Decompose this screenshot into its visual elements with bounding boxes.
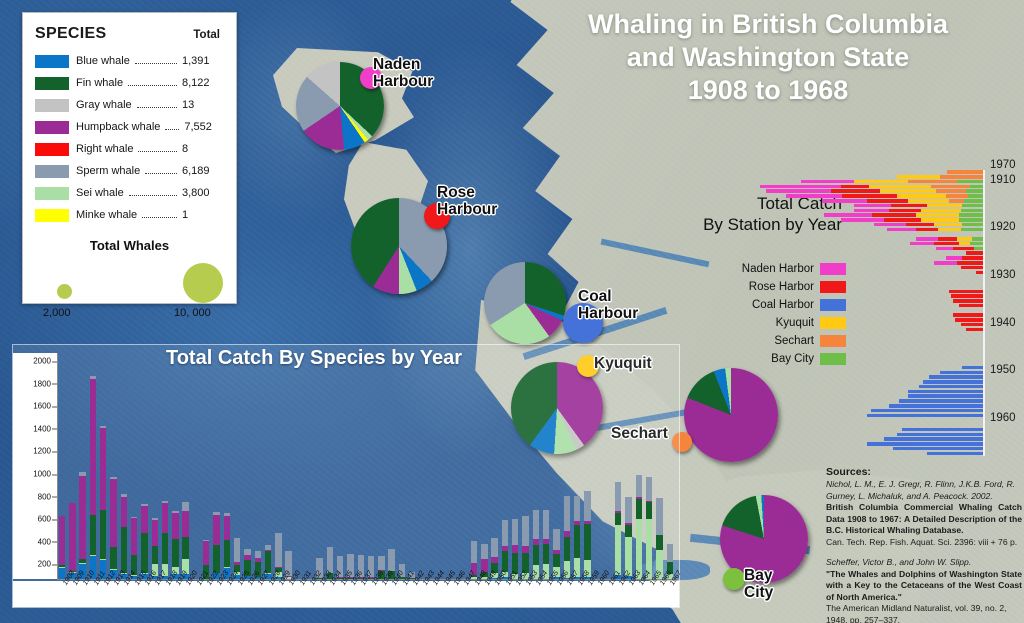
station-bar-segment [880,189,936,193]
station-bar-segment [959,242,970,246]
species-bar-segment [543,510,549,539]
species-legend-row: Sperm whale6,189 [35,160,224,182]
size-legend-large-circle [183,263,223,303]
station-year-bar [946,256,983,260]
species-chart-y-tick: 2000 [33,357,51,366]
species-bar-segment [182,502,188,511]
species-bar-segment [162,533,168,564]
species-bar-segment [564,496,570,531]
species-legend-panel: SPECIES Total Blue whale1,391Fin whale8,… [22,12,237,304]
species-total: 7,552 [184,121,224,133]
station-year-bar [961,323,983,327]
species-bar-segment [203,541,209,566]
species-bar-segment [656,535,662,550]
sources-heading: Sources: [826,466,1022,478]
species-bar-segment [471,541,477,563]
species-total: 1,391 [182,55,224,67]
species-by-year-chart: 0200400600800100012001400160018002000 19… [12,344,680,608]
station-bar-segment [966,189,983,193]
station-bar-segment [961,266,983,270]
species-chart-y-tick: 1200 [33,447,51,456]
leader-dots [138,143,177,152]
species-color-swatch [35,55,69,68]
species-bar-segment [275,533,281,567]
station-bar-segment [955,318,983,322]
species-year-bar [182,502,188,579]
station-bar-segment [902,428,983,432]
station-chart-year-tick: 1920 [990,221,1016,233]
station-bar-segment [916,237,938,241]
station-bar-segment [872,213,915,217]
station-year-bar [854,209,983,213]
species-color-swatch [35,99,69,112]
species-bar-segment [224,540,230,567]
station-year-bar [910,242,983,246]
species-bar-segment [100,510,106,560]
station-label: Bay City [744,567,773,602]
station-bar-segment [959,218,983,222]
species-bar-segment [615,525,621,575]
station-bar-segment [949,199,964,203]
station-chart-year-tick: 1950 [990,364,1016,376]
station-year-bar [940,371,983,375]
station-bar-segment [938,237,957,241]
size-legend-small-circle [57,284,72,299]
station-bar-segment [929,375,983,379]
station-year-bar [908,394,983,398]
station-bar-segment [867,414,983,418]
species-year-bar [656,498,662,579]
species-bar-segment [625,497,631,524]
total-whales-size-legend: 2,000 10, 000 [35,257,224,315]
station-bar-segment [824,213,873,217]
station-chart-year-tick: 1910 [990,174,1016,186]
station-label: Rose Harbour [437,184,497,219]
station-year-bar [871,409,983,413]
species-year-bar [79,472,85,579]
station-bar-segment [959,304,983,308]
station-bar-segment [934,261,956,265]
species-chart-plot-area [57,353,675,579]
station-year-bar [927,452,983,456]
source-2-authors: Scheffer, Victor B., and John W. Slipp. [826,557,1022,569]
species-bar-segment [162,503,168,532]
species-bar-segment [152,546,158,564]
species-legend-total-header: Total [193,29,224,41]
species-bar-segment [141,506,147,534]
station-bar-segment [940,175,983,179]
station-bar-segment [961,323,983,327]
species-name: Fin whale [76,77,123,89]
station-label: Naden Harbour [373,56,433,91]
station-chart-year-tick: 1940 [990,317,1016,329]
species-chart-y-tick: 200 [38,560,51,569]
station-year-bar [889,404,983,408]
species-year-bar [141,504,147,579]
station-by-year-chart: Total Catch By Station by Year Naden Har… [760,168,1024,460]
station-bar-segment [962,366,983,370]
station-bar-segment [938,228,960,232]
species-bar-segment [553,554,559,566]
station-year-bar [929,375,983,379]
station-bar-segment [897,194,946,198]
species-legend-row: Humpback whale7,552 [35,116,224,138]
station-bar-segment [874,223,906,227]
species-legend-title: SPECIES [35,25,106,43]
species-bar-segment [502,520,508,545]
station-year-bar [824,213,983,217]
station-year-bar [884,437,983,441]
species-legend-list: Blue whale1,391Fin whale8,122Gray whale1… [35,50,224,226]
source-1-authors: Nichol, L. M., E. J. Gregr, R. Flinn, J.… [826,479,1022,502]
species-bar-segment [646,477,652,501]
station-bar-segment [961,209,983,213]
station-bar-segment [910,242,934,246]
station-year-bar [867,442,983,446]
station-bar-segment [923,380,983,384]
species-bar-segment [584,491,590,520]
source-1-title: British Columbia Commercial Whaling Catc… [826,502,1022,537]
species-total: 8 [182,143,224,155]
species-bar-segment [234,538,240,562]
station-bar-segment [934,242,958,246]
species-chart-y-tick: 1800 [33,379,51,388]
species-year-bar [646,477,652,579]
station-year-bar [955,318,983,322]
station-bar-segment [822,199,867,203]
station-year-bar [786,194,983,198]
station-bar-segment [962,256,983,260]
station-bar-segment [962,204,983,208]
species-chart-y-tick: 1000 [33,470,51,479]
station-bar-segment [964,199,983,203]
leader-dots [142,209,177,218]
source-2-title: "The Whales and Dolphins of Washington S… [826,569,1022,604]
station-year-bar [919,385,983,389]
station-year-bar [966,251,983,255]
station-bar-segment [916,213,959,217]
species-bar-segment [172,539,178,567]
station-bar-segment [919,385,983,389]
species-bar-segment [584,524,590,560]
station-year-bar [760,185,983,189]
species-year-bar [625,497,631,579]
station-bar-segment [760,185,841,189]
species-bar-segment [110,547,116,569]
station-bar-segment [889,404,983,408]
station-year-bar [953,313,983,317]
station-bar-segment [961,228,983,232]
source-2-publication: The American Midland Naturalist, vol. 39… [826,603,1022,623]
station-bar-segment [966,328,983,332]
station-year-bar [897,175,983,179]
station-bar-segment [934,223,962,227]
species-year-bar [636,475,642,579]
species-color-swatch [35,77,69,90]
station-year-bar [854,204,983,208]
species-bar-segment [90,379,96,515]
station-bar-segment [966,251,983,255]
species-chart-x-axis-band: 1908190919101911191219131914191519161917… [13,581,679,607]
station-bar-segment [931,185,970,189]
station-bar-segment [786,194,842,198]
station-year-bar [822,199,983,203]
station-bar-segment [976,271,983,275]
station-year-bar [893,447,983,451]
station-bar-segment [936,247,953,251]
station-bar-segment [921,218,958,222]
species-year-bar [574,496,580,579]
species-legend-row: Right whale8 [35,138,224,160]
station-chart-year-tick: 1970 [990,159,1016,171]
station-bar-segment [893,447,983,451]
station-year-bar [916,237,983,241]
station-bar-segment [968,194,983,198]
species-legend-header: SPECIES Total [35,25,224,43]
species-name: Right whale [76,143,133,155]
species-total: 13 [182,99,224,111]
species-color-swatch [35,165,69,178]
species-color-swatch [35,209,69,222]
station-bar-segment [889,209,921,213]
station-bar-segment [962,223,983,227]
species-bar-segment [182,537,188,559]
station-bar-segment [869,185,931,189]
station-bar-segment [897,175,940,179]
station-bar-segment [854,180,908,184]
size-legend-large-label: 10, 000 [174,307,211,319]
species-year-bar [110,477,116,579]
species-total: 1 [182,209,224,221]
station-year-bar [951,294,983,298]
species-name: Sperm whale [76,165,140,177]
station-year-bar [962,366,983,370]
species-name: Gray whale [76,99,132,111]
leader-dots [135,55,177,64]
species-chart-y-tick: 1600 [33,402,51,411]
total-whales-legend-title: Total Whales [35,238,224,253]
leader-dots [137,99,177,108]
species-bar-segment [512,545,518,553]
station-bar-segment [831,189,880,193]
station-bar-segment [946,194,968,198]
station-bar-segment [867,199,908,203]
species-bar-segment [574,496,580,521]
station-bar-segment [974,247,983,251]
station-bar-segment [927,452,983,456]
species-year-bar [564,496,570,579]
species-bar-segment [636,499,642,519]
species-color-swatch [35,121,69,134]
species-bar-segment [533,510,539,540]
station-bar-segment [854,209,890,213]
species-year-bar [90,376,96,579]
station-bar-segment [908,180,957,184]
species-total: 6,189 [182,165,224,177]
species-chart-title: Total Catch By Species by Year [99,347,529,370]
station-year-bar [867,414,983,418]
species-year-bar [162,501,168,579]
species-bar-segment [110,479,116,547]
sources-block: Sources: Nichol, L. M., E. J. Gregr, R. … [826,466,1022,623]
station-bar-segment [972,237,983,241]
species-chart-y-tick: 600 [38,515,51,524]
station-bar-segment [916,228,938,232]
species-bar-segment [646,502,652,519]
species-bar-segment [172,513,178,539]
station-year-bar [961,266,983,270]
species-total: 8,122 [182,77,224,89]
station-bar-segment [953,247,974,251]
station-bar-segment [970,185,983,189]
species-legend-row: Minke whale1 [35,204,224,226]
station-year-bar [874,223,983,227]
station-bar-segment [947,170,983,174]
station-year-bar [936,247,983,251]
species-bar-segment [100,428,106,509]
station-bar-segment [949,290,983,294]
station-bar-segment [951,294,983,298]
station-bar-segment [959,213,983,217]
species-bar-segment [564,537,570,561]
species-name: Sei whale [76,187,124,199]
species-chart-y-axis-band: 0200400600800100012001400160018002000 [13,353,57,579]
leader-dots [145,165,177,174]
station-bar-segment [970,242,983,246]
station-year-bar [766,189,983,193]
species-bar-segment [574,525,580,558]
species-bar-segment [615,513,621,525]
species-bar-segment [79,476,85,560]
species-color-swatch [35,187,69,200]
station-bar-segment [842,194,896,198]
station-year-bar [966,328,983,332]
size-legend-small-label: 2,000 [43,307,71,319]
station-year-bar [947,170,983,174]
species-legend-row: Fin whale8,122 [35,72,224,94]
species-name: Minke whale [76,209,137,221]
station-bar-segment [887,228,915,232]
station-bar-segment [957,261,983,265]
station-bar-segment [946,256,963,260]
species-bar-segment [388,549,394,570]
station-year-bar [801,180,983,184]
station-year-bar [902,428,983,432]
species-color-swatch [35,143,69,156]
species-bar-segment [543,544,549,564]
station-bar-segment [841,218,884,222]
species-bar-segment [667,544,673,562]
species-bar-segment [244,549,250,556]
station-bar-segment [953,313,983,317]
species-bar-segment [481,544,487,559]
station-bar-segment [891,204,927,208]
species-bar-segment [121,497,127,527]
station-bar-segment [936,189,966,193]
species-bar-segment [615,482,621,511]
station-marker-dot[interactable] [723,568,745,590]
station-year-bar [899,399,983,403]
species-bar-segment [59,516,65,565]
station-bar-segment [899,399,983,403]
station-bar-segment [908,390,983,394]
species-bar-segment [491,538,497,557]
station-bar-segment [766,189,832,193]
species-bar-segment [378,556,384,570]
station-bar-segment [867,442,983,446]
species-legend-row: Blue whale1,391 [35,50,224,72]
station-chart-year-tick: 1930 [990,269,1016,281]
station-bar-segment [908,199,949,203]
station-chart-year-tick: 1960 [990,412,1016,424]
species-year-bar [584,491,590,579]
species-bar-segment [121,527,127,573]
species-bar-segment [69,503,75,571]
species-bar-segment [152,520,158,546]
species-bar-segment [636,475,642,497]
station-year-bar [934,261,983,265]
species-name: Humpback whale [76,121,160,133]
infographic-poster: Whaling in British Columbia and Washingt… [0,0,1024,623]
station-year-bar [841,218,983,222]
station-bar-segment [940,371,983,375]
station-bar-segment [884,218,921,222]
station-bar-segment [957,180,983,184]
station-bar-segment [957,237,972,241]
species-bar-segment [512,519,518,545]
station-bar-segment [801,180,853,184]
species-bar-segment [656,498,662,535]
station-bar-segment [908,394,983,398]
station-chart-axis [983,170,985,456]
species-bar-segment [522,516,528,545]
leader-dots [128,77,177,86]
species-bar-segment [553,529,559,550]
leader-dots [165,121,179,130]
species-bar-segment [625,525,631,537]
station-pie-coal-harbour [484,262,566,344]
species-year-bar [543,510,549,579]
station-bar-segment [921,209,960,213]
station-year-bar [923,380,983,384]
station-year-bar [897,433,983,437]
station-bar-segment [854,204,891,208]
species-bar-segment [533,545,539,565]
species-bar-segment [131,518,137,555]
species-bar-segment [522,546,528,553]
species-bar-segment [182,511,188,537]
station-chart-bars [760,170,983,456]
species-bar-segment [213,515,219,545]
species-year-bar [121,494,127,579]
station-year-bar [949,290,983,294]
species-year-bar [59,516,65,579]
species-name: Blue whale [76,55,130,67]
species-bar-segment [224,516,230,540]
species-chart-y-tick: 800 [38,492,51,501]
species-bar-segment [90,515,96,556]
station-year-bar [908,390,983,394]
leader-dots [129,187,177,196]
station-label: Coal Harbour [578,288,638,323]
station-bar-segment [906,223,934,227]
station-bar-segment [927,204,963,208]
species-total: 3,800 [182,187,224,199]
station-bar-segment [953,299,983,303]
station-bar-segment [841,185,869,189]
sources-spacer [826,548,1022,557]
station-bar-segment [897,433,983,437]
